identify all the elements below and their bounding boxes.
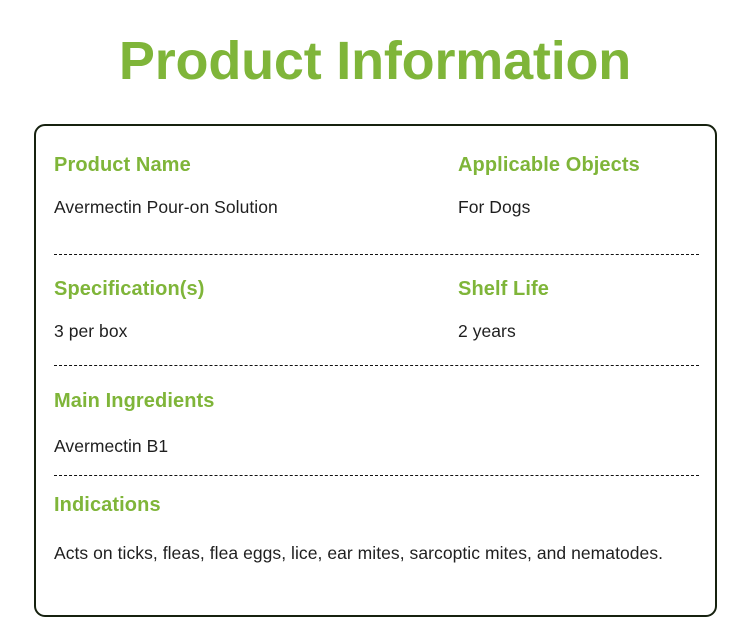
spacer [54, 413, 699, 433]
row-divider [54, 254, 699, 255]
field-product-name: Product Name Avermectin Pour-on Solution [54, 154, 458, 220]
field-label: Product Name [54, 154, 458, 177]
field-specification: Specification(s) 3 per box [54, 278, 458, 344]
field-indications: Indications Acts on ticks, fleas, flea e… [54, 494, 699, 569]
field-main-ingredients: Main Ingredients Avermectin B1 [54, 390, 699, 459]
field-label: Main Ingredients [54, 390, 699, 413]
spacer [54, 177, 458, 194]
field-value: Acts on ticks, fleas, flea eggs, lice, e… [54, 537, 669, 569]
page-title: Product Information [0, 33, 750, 90]
field-applicable-objects: Applicable Objects For Dogs [458, 154, 699, 220]
field-label: Shelf Life [458, 278, 699, 301]
field-value: For Dogs [458, 194, 699, 220]
table-row: Specification(s) 3 per box Shelf Life 2 … [54, 278, 699, 344]
field-label: Specification(s) [54, 278, 458, 301]
card-inner: Product Name Avermectin Pour-on Solution… [54, 126, 699, 615]
table-row: Product Name Avermectin Pour-on Solution… [54, 154, 699, 220]
field-shelf-life: Shelf Life 2 years [458, 278, 699, 344]
spacer [458, 177, 699, 194]
spacer [54, 517, 699, 537]
product-information-card: Product Name Avermectin Pour-on Solution… [34, 124, 717, 617]
spacer [458, 301, 699, 318]
row-divider [54, 475, 699, 476]
field-value: Avermectin Pour-on Solution [54, 194, 458, 220]
field-value: 3 per box [54, 318, 458, 344]
row-divider [54, 365, 699, 366]
field-label: Indications [54, 494, 699, 517]
table-row: Main Ingredients Avermectin B1 [54, 390, 699, 459]
field-value: 2 years [458, 318, 699, 344]
table-row: Indications Acts on ticks, fleas, flea e… [54, 494, 699, 569]
field-value: Avermectin B1 [54, 433, 699, 459]
product-information-page: Product Information Product Name Avermec… [0, 0, 750, 644]
field-label: Applicable Objects [458, 154, 699, 177]
spacer [54, 301, 458, 318]
